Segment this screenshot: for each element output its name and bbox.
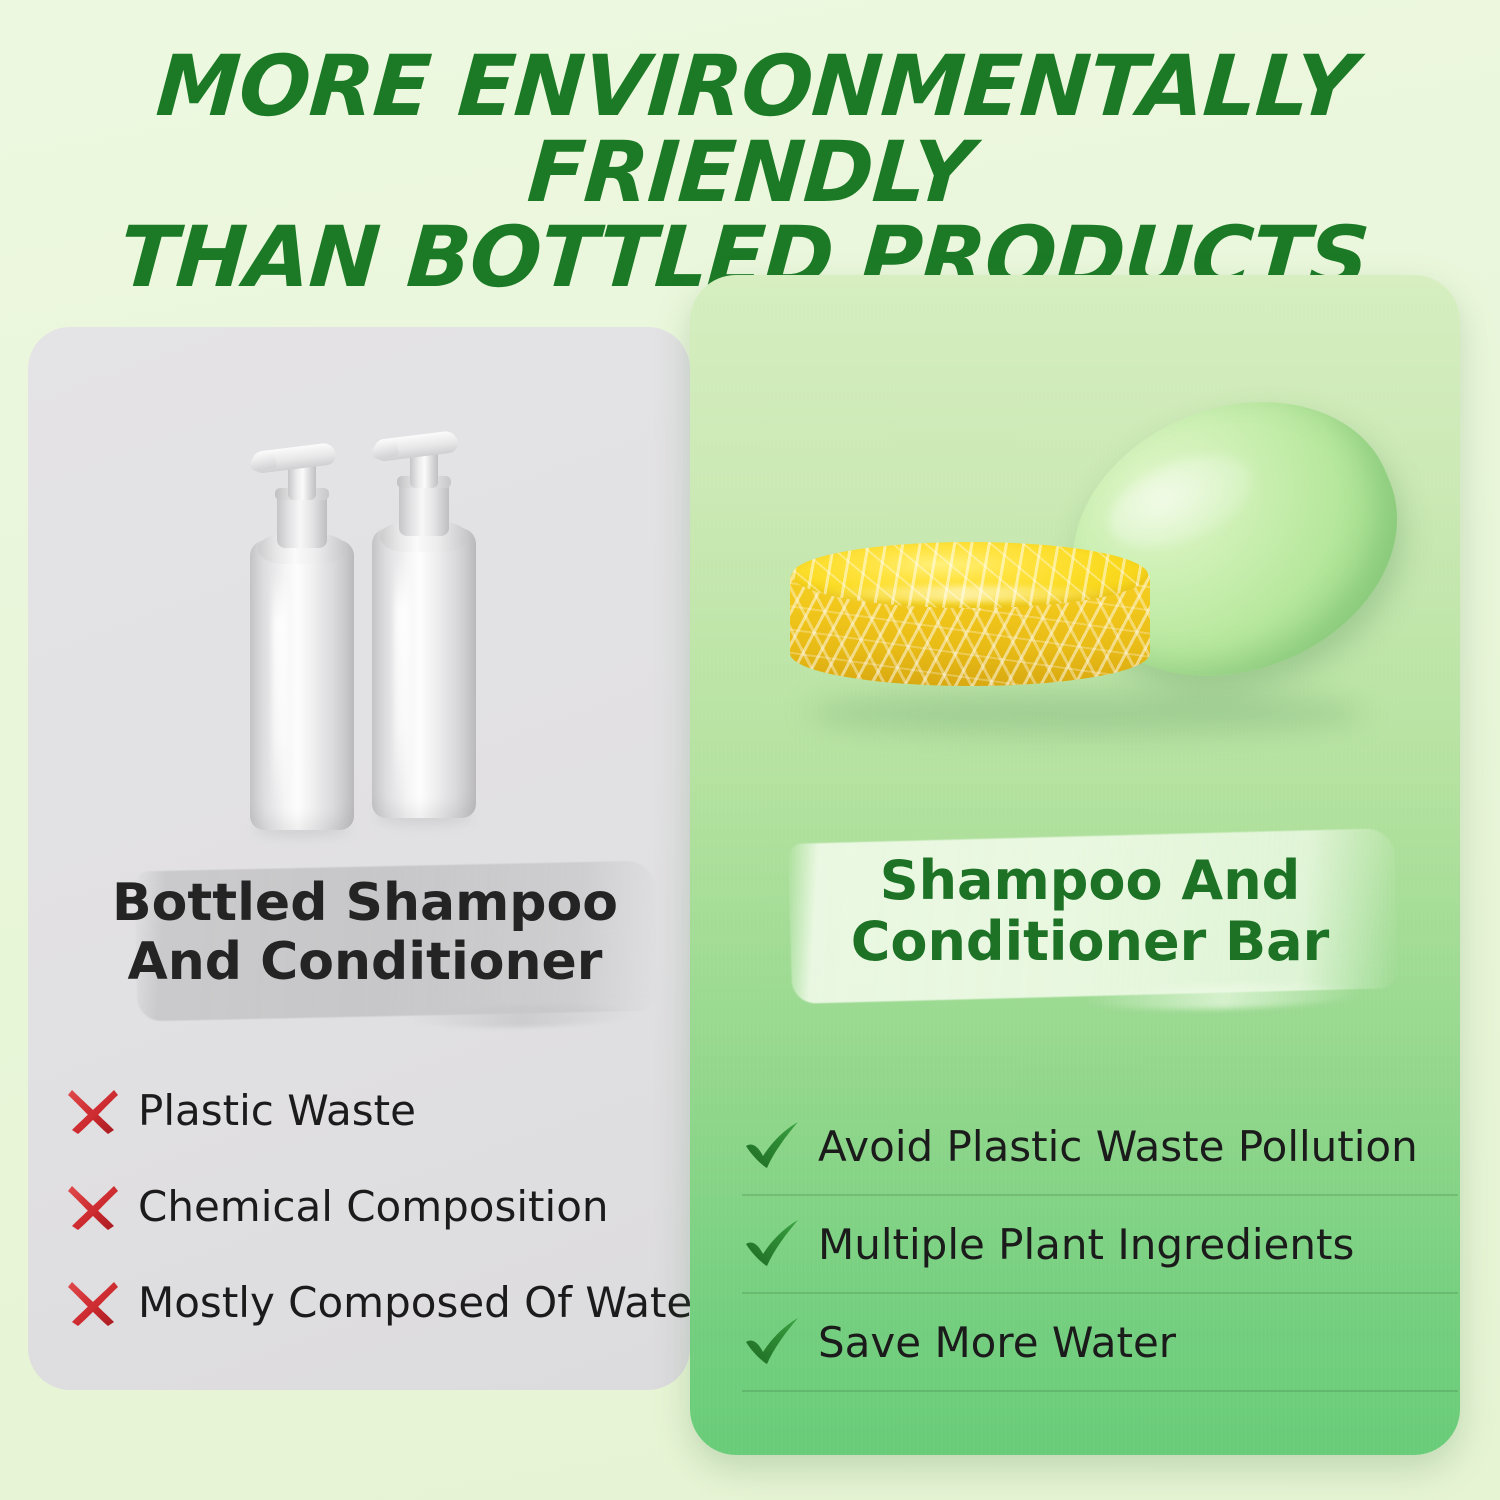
bottled-drawbacks-list: Plastic Waste Chemical Composition Mostl… xyxy=(62,1062,692,1350)
list-item: Multiple Plant Ingredients xyxy=(742,1196,1458,1294)
check-icon xyxy=(742,1118,804,1174)
cross-icon xyxy=(62,1082,124,1138)
headline-line-1: More Environmentally Friendly xyxy=(0,44,1500,215)
cross-icon xyxy=(62,1274,124,1330)
shampoo-bar-benefits-list: Avoid Plastic Waste Pollution Multiple P… xyxy=(742,1098,1458,1392)
list-item: Avoid Plastic Waste Pollution xyxy=(742,1098,1458,1196)
yellow-bar-rim-highlight xyxy=(816,586,1116,602)
yellow-soap-bar xyxy=(790,542,1150,700)
list-item-label: Save More Water xyxy=(818,1318,1176,1367)
cross-icon xyxy=(62,1178,124,1234)
right-panel-title: Shampoo And Conditioner Bar xyxy=(740,850,1440,972)
right-title-line-2: Conditioner Bar xyxy=(740,911,1440,972)
list-item-label: Avoid Plastic Waste Pollution xyxy=(818,1122,1418,1171)
pump-bottle xyxy=(372,418,476,818)
page-title: More Environmentally Friendly Than Bottl… xyxy=(0,44,1500,301)
list-item-label: Mostly Composed Of Water xyxy=(138,1278,710,1327)
check-icon xyxy=(742,1216,804,1272)
pump-bottle-illustration xyxy=(232,418,512,818)
bottle-body xyxy=(250,540,354,830)
list-item-label: Multiple Plant Ingredients xyxy=(818,1220,1354,1269)
bottle-highlight xyxy=(394,558,410,796)
list-item: Chemical Composition xyxy=(62,1158,692,1254)
list-item: Plastic Waste xyxy=(62,1062,692,1158)
bottle-highlight xyxy=(272,570,288,808)
list-item: Mostly Composed Of Water xyxy=(62,1254,692,1350)
list-item: Save More Water xyxy=(742,1294,1458,1392)
left-title-line-1: Bottled Shampoo xyxy=(60,874,670,933)
bottle-neck xyxy=(277,492,327,548)
check-icon xyxy=(742,1314,804,1370)
pump-bottle xyxy=(250,430,354,830)
soap-bar-illustration xyxy=(770,400,1450,760)
bottle-neck xyxy=(399,480,449,536)
left-panel-title: Bottled Shampoo And Conditioner xyxy=(60,874,670,992)
list-item-label: Plastic Waste xyxy=(138,1086,416,1135)
left-title-line-2: And Conditioner xyxy=(60,933,670,992)
list-item-label: Chemical Composition xyxy=(138,1182,609,1231)
bottle-body xyxy=(372,528,476,818)
infographic-poster: More Environmentally Friendly Than Bottl… xyxy=(0,0,1500,1500)
right-title-line-1: Shampoo And xyxy=(740,850,1440,911)
